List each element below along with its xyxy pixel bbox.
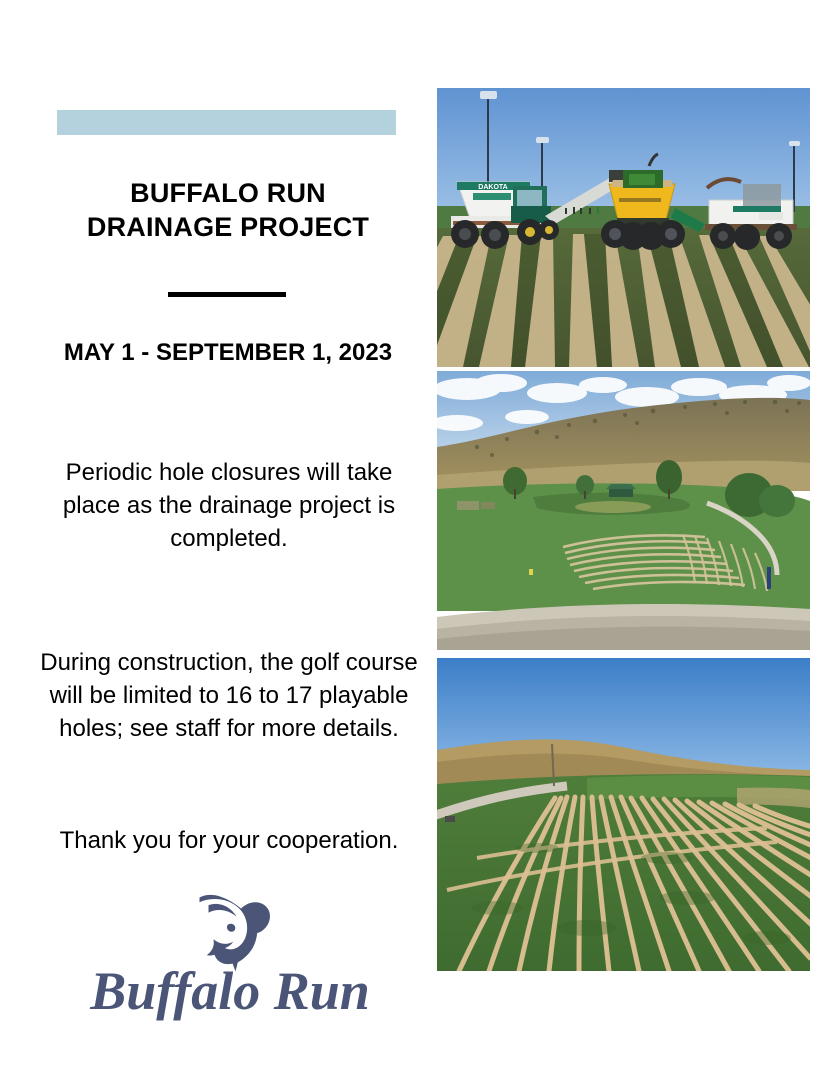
logo-wordmark-text: Buffalo Run xyxy=(89,961,370,1021)
body-paragraph-thank-you: Thank you for your cooperation. xyxy=(38,824,420,857)
logo-wordmark: Buffalo Run xyxy=(60,959,400,1025)
photo-topdressing-equipment: DAKOTA xyxy=(437,88,810,367)
photo-drainage-lines-fairway xyxy=(437,658,810,971)
page-title-line-1: BUFFALO RUN xyxy=(28,176,428,210)
page-title-line-2: DRAINAGE PROJECT xyxy=(28,210,428,244)
title-divider xyxy=(168,292,286,297)
decorative-accent-bar xyxy=(57,110,396,135)
photo-golf-course-hillside xyxy=(437,371,810,650)
page-title: BUFFALO RUN DRAINAGE PROJECT xyxy=(28,176,428,244)
body-paragraph-playable-holes: During construction, the golf course wil… xyxy=(38,646,420,745)
text-column: BUFFALO RUN DRAINAGE PROJECT MAY 1 - SEP… xyxy=(0,0,437,1066)
buffalo-run-logo: Buffalo Run xyxy=(60,893,400,1028)
project-date-range: MAY 1 - SEPTEMBER 1, 2023 xyxy=(20,336,436,369)
equipment-brand-label: DAKOTA xyxy=(478,184,507,191)
body-paragraph-closures: Periodic hole closures will take place a… xyxy=(38,456,420,555)
